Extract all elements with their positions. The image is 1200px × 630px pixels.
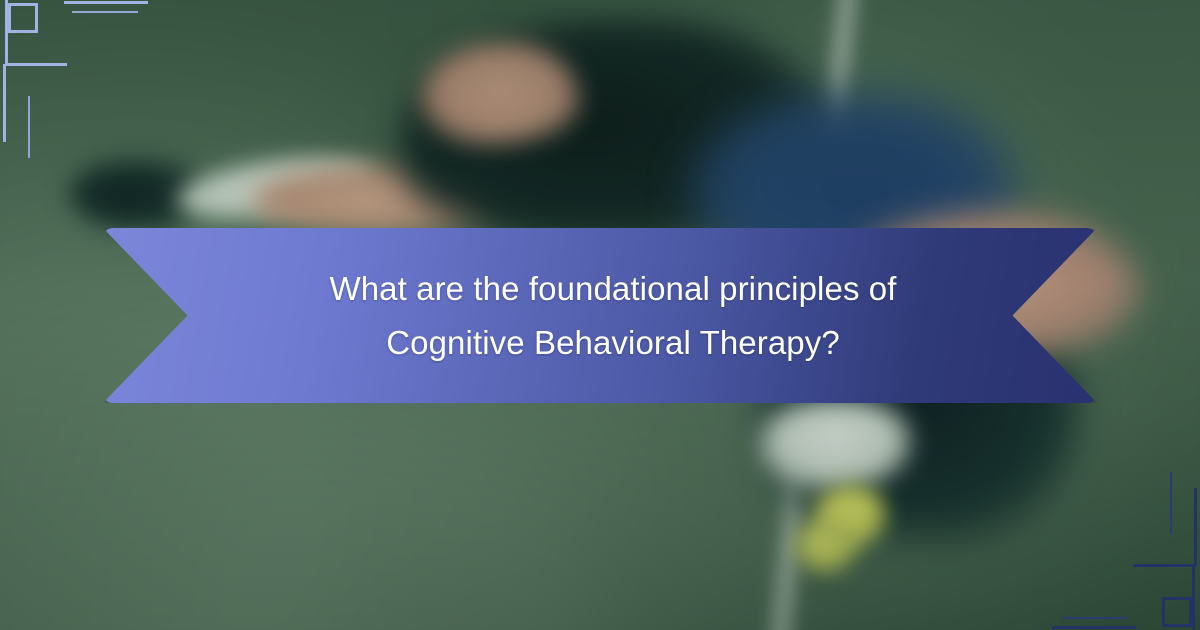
question-text: What are the foundational principles of … [233, 262, 993, 370]
ornament-bracket-icon [1133, 564, 1195, 630]
ornament-horizontal-rule [64, 1, 148, 4]
ornament-vertical-rule [1170, 472, 1172, 534]
ornament-horizontal-rule [72, 11, 138, 13]
social-card-canvas: What are the foundational principles of … [0, 0, 1200, 630]
question-text-line-2: Cognitive Behavioral Therapy? [233, 316, 993, 370]
ornament-vertical-rule [28, 96, 30, 158]
ornament-vertical-rule [1194, 488, 1197, 566]
ornament-horizontal-rule [1052, 626, 1136, 629]
ornament-vertical-rule [3, 64, 6, 142]
ornament-bracket-icon [5, 0, 67, 66]
ornament-horizontal-rule [1062, 617, 1128, 619]
question-text-line-1: What are the foundational principles of [233, 262, 993, 316]
question-ribbon-banner: What are the foundational principles of … [103, 228, 1097, 403]
